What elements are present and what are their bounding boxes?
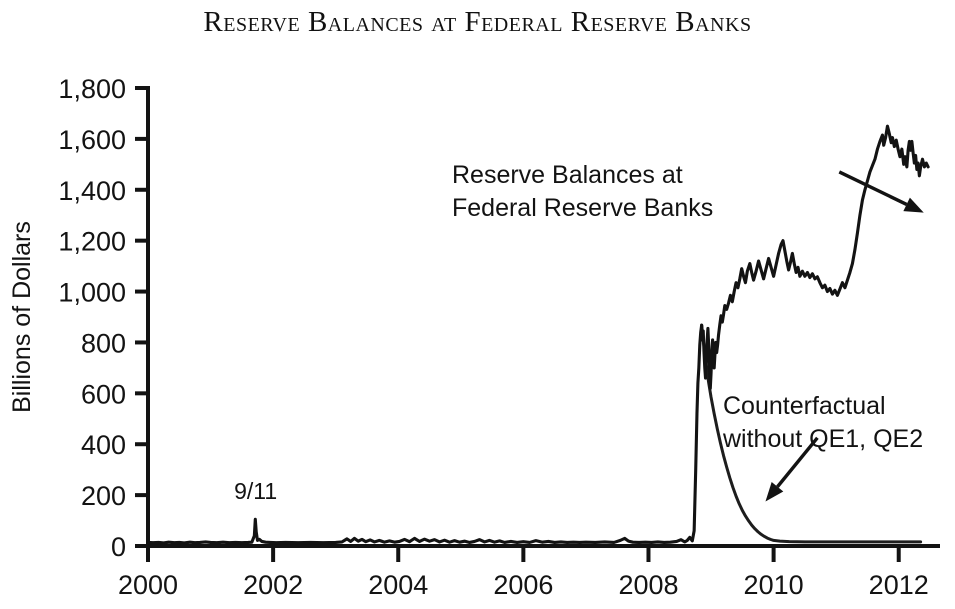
line-chart: 02004006008001,0001,2001,4001,6001,800 2… [0,0,955,609]
y-tick-label: 0 [111,532,126,562]
annotation-line: Reserve Balances at [452,161,683,189]
y-tick-label: 200 [81,481,126,511]
y-tick-label: 1,800 [58,74,126,104]
x-tick-label: 2008 [618,570,678,600]
x-tick-label: 2000 [118,570,178,600]
y-axis-ticks: 02004006008001,0001,2001,4001,6001,800 [58,74,148,562]
annotation-line: Counterfactual [723,392,886,420]
x-tick-label: 2006 [493,570,553,600]
annotation-line: without QE1, QE2 [722,425,923,453]
y-tick-label: 1,000 [58,278,126,308]
chart-annotations: Reserve Balances atFederal Reserve Banks… [234,161,924,504]
x-tick-label: 2010 [744,570,804,600]
reserve-balances-annotation: Reserve Balances atFederal Reserve Banks [452,161,713,222]
y-tick-label: 1,400 [58,176,126,206]
x-tick-label: 2002 [243,570,303,600]
x-tick-label: 2004 [368,570,428,600]
y-tick-label: 800 [81,328,126,358]
y-tick-label: 1,600 [58,125,126,155]
y-tick-label: 600 [81,379,126,409]
y-tick-label: 400 [81,430,126,460]
x-tick-label: 2012 [869,570,929,600]
counterfactual-annotation: Counterfactualwithout QE1, QE2 [722,392,923,453]
y-tick-label: 1,200 [58,227,126,257]
y-axis-title: Billions of Dollars [8,221,36,413]
x-axis-ticks: 2000200220042006200820102012 [118,546,929,600]
nine-eleven-label: 9/11 [234,478,277,504]
annotation-line: Federal Reserve Banks [452,194,713,222]
chart-container: Reserve Balances at Federal Reserve Bank… [0,0,955,609]
reserve-balances-arrow [839,172,923,213]
